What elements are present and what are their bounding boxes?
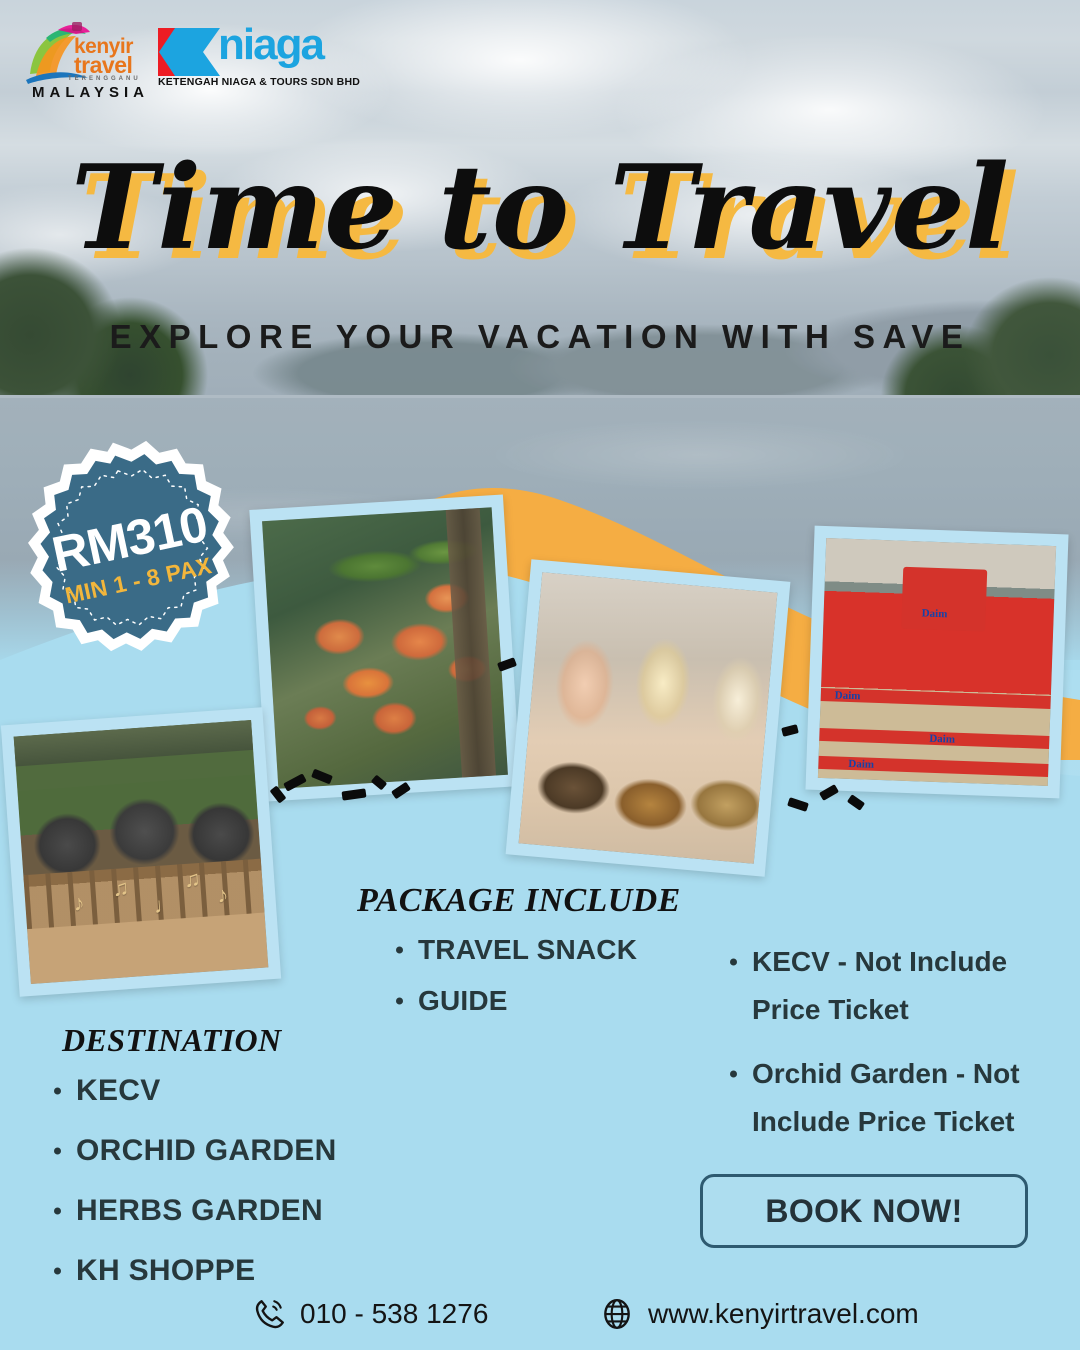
photo-kecv-elephants: ♪ ♫ ♩ ♫ ♪: [1, 707, 281, 997]
photo-kh-shoppe-image: Daim Daim Daim Daim: [818, 538, 1056, 786]
package-include-title: PACKAGE INCLUDE: [357, 882, 681, 920]
photo-orchid-garden-image: [262, 507, 508, 789]
ketengah-niaga-logo: niaga KETENGAH NIAGA & TOURS SDN BHD: [158, 26, 338, 98]
photo-kecv-elephants-image: ♪ ♫ ♩ ♫ ♪: [14, 720, 269, 984]
hero-title-block: Time to Travel Time to Travel: [0, 118, 1080, 318]
music-note-icon: ♫: [112, 875, 130, 902]
photo-kh-shoppe: Daim Daim Daim Daim: [805, 526, 1068, 799]
footer-phone-text: 010 - 538 1276: [300, 1298, 488, 1330]
price-badge: RM310 MIN 1 - 8 PAX: [6, 438, 258, 664]
destination-list: KECV ORCHID GARDEN HERBS GARDEN KH SHOPP…: [50, 1074, 337, 1314]
list-item: GUIDE: [392, 985, 637, 1017]
niaga-chevron-icon: [158, 28, 222, 76]
photo-herbs-garden-image: [519, 572, 778, 864]
list-item: KECV: [50, 1074, 337, 1108]
footer-website-text: www.kenyirtravel.com: [648, 1298, 919, 1330]
daim-carton: Daim: [901, 567, 987, 632]
list-item: Orchid Garden - Not Include Price Ticket: [726, 1050, 1046, 1146]
list-item: HERBS GARDEN: [50, 1194, 337, 1228]
kenyir-logo-line4: MALAYSIA: [32, 84, 149, 101]
kenyir-wordmark: kenyir travel: [74, 36, 133, 77]
logo-bar: kenyir travel TERENGGANU MALAYSIA niaga …: [0, 0, 1080, 110]
photo-herbs-garden: [506, 559, 791, 877]
footer-phone[interactable]: 010 - 538 1276: [252, 1297, 488, 1331]
music-note-icon: ♪: [216, 882, 229, 909]
exclusions-list: KECV - Not Include Price Ticket Orchid G…: [726, 938, 1046, 1163]
music-note-icon: ♫: [183, 866, 201, 893]
hero-subtitle: EXPLORE YOUR VACATION WITH SAVE: [0, 318, 1080, 356]
page-title: Time to Travel: [0, 150, 1080, 266]
kenyir-logo-line3: TERENGGANU: [68, 76, 141, 82]
music-note-icon: ♪: [73, 890, 86, 917]
globe-icon: [600, 1297, 634, 1331]
list-item: KH SHOPPE: [50, 1254, 337, 1288]
book-now-button[interactable]: BOOK NOW!: [700, 1174, 1028, 1248]
phone-icon: [252, 1297, 286, 1331]
list-item: ORCHID GARDEN: [50, 1134, 337, 1168]
kenyir-logo-line2: travel: [74, 54, 133, 77]
list-item: KECV - Not Include Price Ticket: [726, 938, 1046, 1034]
music-note-icon: ♩: [153, 892, 177, 919]
travel-package-poster: kenyir travel TERENGGANU MALAYSIA niaga …: [0, 0, 1080, 1350]
destination-title: DESTINATION: [62, 1022, 282, 1059]
footer-website[interactable]: www.kenyirtravel.com: [600, 1297, 919, 1331]
niaga-subtitle: KETENGAH NIAGA & TOURS SDN BHD: [158, 76, 360, 88]
niaga-wordmark: niaga: [218, 20, 323, 70]
kenyir-travel-logo: kenyir travel TERENGGANU MALAYSIA: [24, 20, 140, 100]
list-item: TRAVEL SNACK: [392, 934, 637, 966]
package-include-list: TRAVEL SNACK GUIDE: [392, 934, 637, 1036]
photo-orchid-garden: [249, 495, 520, 802]
